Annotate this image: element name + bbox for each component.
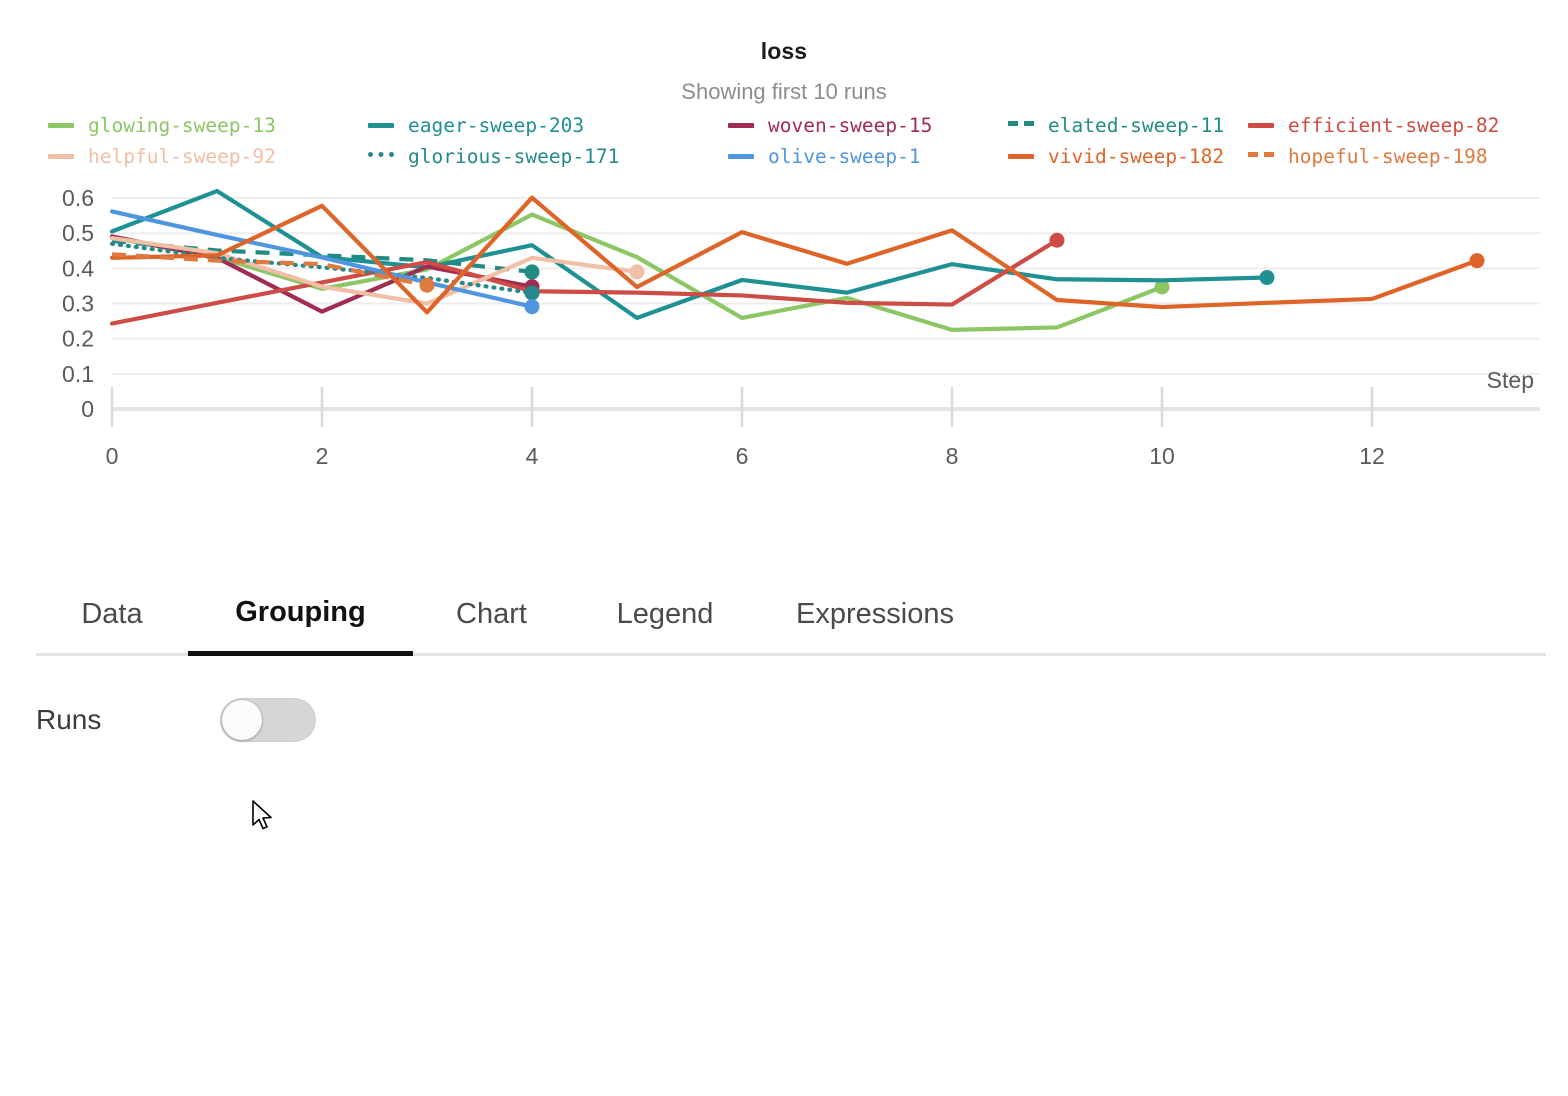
- legend-item-label: woven-sweep-15: [768, 116, 932, 136]
- legend-item-label: glowing-sweep-13: [88, 116, 276, 136]
- grouping-panel: Runs: [36, 690, 1336, 750]
- tab-chart[interactable]: Chart: [413, 598, 570, 653]
- y-tick-label: 0.2: [62, 326, 94, 352]
- x-tick-label: 12: [1359, 443, 1385, 469]
- legend-item-hopeful-sweep-198[interactable]: hopeful-sweep-198: [1248, 141, 1548, 172]
- legend-item-vivid-sweep-182[interactable]: vivid-sweep-182: [1008, 141, 1248, 172]
- x-axis-label: Step: [1487, 367, 1534, 393]
- series-endpoint-elated-sweep-11[interactable]: [525, 264, 540, 279]
- runs-label: Runs: [36, 704, 220, 736]
- y-tick-label: 0: [81, 396, 94, 422]
- runs-toggle[interactable]: [220, 698, 316, 742]
- legend-item-glorious-sweep-171[interactable]: glorious-sweep-171: [368, 141, 728, 172]
- x-tick-label: 0: [106, 443, 119, 469]
- series-endpoint-eager-sweep-203[interactable]: [1260, 270, 1275, 285]
- legend-swatch-icon: [1008, 154, 1034, 159]
- chart-legend: glowing-sweep-13eager-sweep-203woven-swe…: [48, 110, 1548, 172]
- legend-item-label: efficient-sweep-82: [1288, 116, 1499, 136]
- chart-title: loss: [0, 38, 1568, 65]
- y-tick-label: 0.3: [62, 291, 94, 317]
- x-tick-label: 4: [526, 443, 539, 469]
- runs-setting-row: Runs: [36, 690, 1336, 750]
- series-endpoint-vivid-sweep-182[interactable]: [1470, 253, 1485, 268]
- tab-expressions-label: Expressions: [796, 598, 954, 631]
- x-tick-label: 10: [1149, 443, 1175, 469]
- tab-data-label: Data: [81, 598, 142, 631]
- legend-swatch-icon: [368, 123, 394, 128]
- x-tick-label: 6: [736, 443, 749, 469]
- y-tick-label: 0.1: [62, 361, 94, 387]
- plot-area[interactable]: 00.10.20.30.40.50.6024681012Step: [0, 170, 1568, 470]
- runs-toggle-knob: [222, 700, 262, 740]
- legend-swatch-icon: [48, 154, 74, 159]
- legend-item-eager-sweep-203[interactable]: eager-sweep-203: [368, 110, 728, 141]
- legend-swatch-icon: [368, 152, 394, 162]
- legend-item-label: glorious-sweep-171: [408, 147, 619, 167]
- series-endpoint-hopeful-sweep-198[interactable]: [420, 278, 435, 293]
- line-chart-svg: 00.10.20.30.40.50.6024681012Step: [0, 170, 1568, 470]
- legend-item-efficient-sweep-82[interactable]: efficient-sweep-82: [1248, 110, 1548, 141]
- legend-swatch-icon: [728, 154, 754, 159]
- legend-item-helpful-sweep-92[interactable]: helpful-sweep-92: [48, 141, 368, 172]
- tab-grouping-label: Grouping: [235, 596, 365, 629]
- mouse-cursor: [252, 800, 274, 832]
- tab-chart-label: Chart: [456, 598, 527, 631]
- legend-item-elated-sweep-11[interactable]: elated-sweep-11: [1008, 110, 1248, 141]
- tab-expressions[interactable]: Expressions: [760, 598, 990, 653]
- legend-swatch-icon: [728, 123, 754, 128]
- tab-data[interactable]: Data: [36, 598, 188, 653]
- chart-panel: loss Showing first 10 runs glowing-sweep…: [0, 0, 1568, 520]
- legend-item-label: eager-sweep-203: [408, 116, 584, 136]
- legend-item-label: hopeful-sweep-198: [1288, 147, 1488, 167]
- y-tick-label: 0.5: [62, 220, 94, 246]
- legend-item-label: helpful-sweep-92: [88, 147, 276, 167]
- series-endpoint-olive-sweep-1[interactable]: [525, 299, 540, 314]
- legend-swatch-icon: [1008, 121, 1034, 131]
- tab-legend[interactable]: Legend: [570, 598, 760, 653]
- legend-item-label: vivid-sweep-182: [1048, 147, 1224, 167]
- legend-item-glowing-sweep-13[interactable]: glowing-sweep-13: [48, 110, 368, 141]
- series-endpoint-helpful-sweep-92[interactable]: [630, 264, 645, 279]
- y-tick-label: 0.4: [62, 255, 94, 281]
- legend-swatch-icon: [1248, 123, 1274, 128]
- tab-legend-label: Legend: [617, 598, 714, 631]
- legend-item-label: elated-sweep-11: [1048, 116, 1224, 136]
- x-tick-label: 8: [946, 443, 959, 469]
- series-endpoint-glorious-sweep-171[interactable]: [525, 285, 540, 300]
- tab-grouping[interactable]: Grouping: [188, 596, 413, 656]
- settings-tabs: Data Grouping Chart Legend Expressions: [36, 565, 1546, 656]
- legend-item-woven-sweep-15[interactable]: woven-sweep-15: [728, 110, 1008, 141]
- x-tick-label: 2: [316, 443, 329, 469]
- series-endpoint-efficient-sweep-82[interactable]: [1050, 233, 1065, 248]
- legend-item-olive-sweep-1[interactable]: olive-sweep-1: [728, 141, 1008, 172]
- y-tick-label: 0.6: [62, 185, 94, 211]
- legend-swatch-icon: [48, 123, 74, 128]
- legend-item-label: olive-sweep-1: [768, 147, 921, 167]
- legend-swatch-icon: [1248, 152, 1274, 162]
- chart-subtitle: Showing first 10 runs: [0, 79, 1568, 105]
